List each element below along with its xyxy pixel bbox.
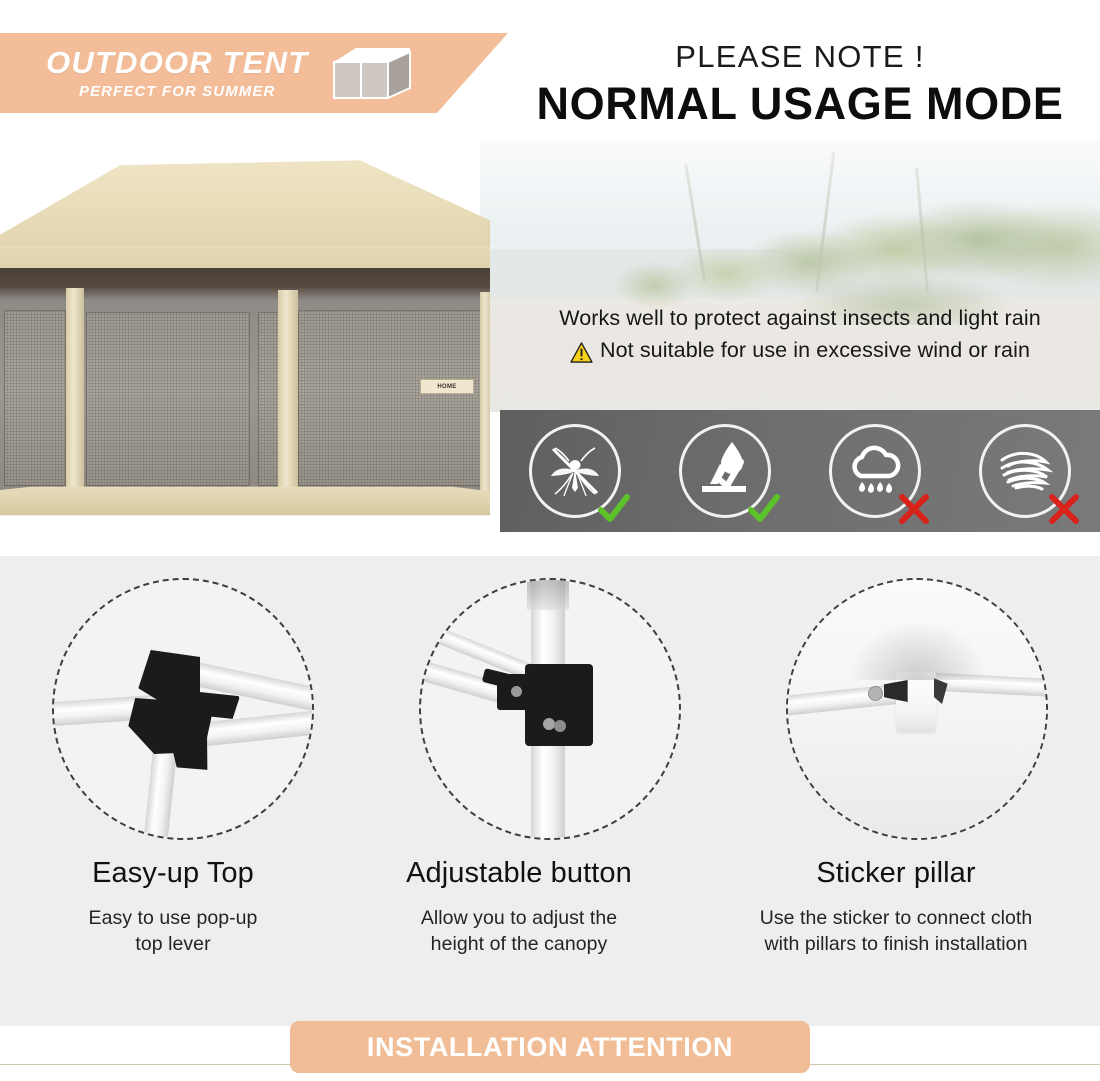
mesh-texture — [86, 312, 250, 486]
feature-caption-sticker-pillar: Sticker pillar Use the sticker to connec… — [700, 856, 1092, 957]
feature-title: Sticker pillar — [700, 856, 1092, 891]
feature-caption-adjustable-button: Adjustable button Allow you to adjust th… — [354, 856, 684, 957]
dashed-circle-frame — [419, 578, 681, 840]
page-title: NORMAL USAGE MODE — [500, 78, 1100, 130]
ribbon-subtitle: PERFECT FOR SUMMER — [79, 84, 275, 99]
bracket-rivet — [554, 720, 566, 732]
beach-background-image — [480, 140, 1100, 412]
notice-line-1: Works well to protect against insects an… — [559, 302, 1041, 334]
installation-attention-banner: INSTALLATION ATTENTION — [290, 1021, 810, 1073]
usage-notice: Works well to protect against insects an… — [500, 302, 1100, 367]
cross-mark-icon — [897, 493, 931, 525]
tent-center-pole — [278, 290, 298, 500]
ribbon-text-group: OUTDOOR TENT PERFECT FOR SUMMER — [46, 47, 308, 99]
capability-item-heavy-rain — [823, 419, 927, 523]
canopy-shadow — [848, 620, 988, 680]
notice-line-1-row: Works well to protect against insects an… — [500, 302, 1100, 334]
cross-mark-icon — [1047, 493, 1081, 525]
canopy-shadow — [527, 578, 569, 610]
feature-description: Use the sticker to connect cloth with pi… — [700, 905, 1092, 958]
pole-rivet — [868, 686, 883, 701]
feature-description: Allow you to adjust the height of the ca… — [354, 905, 684, 958]
feature-title: Easy-up Top — [8, 856, 338, 891]
tent-icon — [326, 42, 418, 104]
mesh-texture — [298, 310, 484, 486]
brand-logo-badge: HOME — [420, 379, 474, 394]
hub-connector-photo — [54, 580, 312, 838]
tent-corner-pole — [480, 292, 490, 500]
ribbon-title: OUTDOOR TENT — [46, 47, 308, 78]
mesh-panel — [86, 312, 250, 486]
notice-line-2-row: Not suitable for use in excessive wind o… — [500, 334, 1100, 366]
mesh-panel — [4, 310, 66, 486]
feature-photo-easy-up-top — [33, 572, 333, 852]
capability-item-strong-wind — [973, 419, 1077, 523]
feature-photo-adjustable-button — [400, 572, 700, 852]
tent-corner-pole — [66, 288, 84, 500]
capability-icon-strip — [500, 410, 1100, 532]
feature-photo-sticker-pillar — [767, 572, 1067, 852]
dashed-circle-frame — [786, 578, 1048, 840]
feature-photo-row — [0, 572, 1100, 862]
brand-logo-text: HOME — [437, 384, 456, 390]
outdoor-tent-ribbon: OUTDOOR TENT PERFECT FOR SUMMER — [0, 33, 508, 113]
headline-block: PLEASE NOTE ! NORMAL USAGE MODE — [500, 40, 1100, 130]
tent-mesh-body — [0, 268, 490, 498]
feature-title: Adjustable button — [354, 856, 684, 891]
sticker-pillar-photo — [788, 580, 1046, 838]
velcro-sticker-strap — [896, 672, 936, 732]
check-mark-icon — [597, 493, 631, 525]
image-wash-overlay — [480, 140, 1100, 412]
dashed-circle-frame — [52, 578, 314, 840]
product-infographic: HOME OUTDOOR TENT PERFECT FOR SUMMER P — [0, 0, 1100, 1081]
adjustable-bracket-photo — [421, 580, 679, 838]
mesh-panel — [298, 310, 484, 486]
features-section: Easy-up Top Easy to use pop-up top lever… — [0, 556, 1100, 1026]
top-section: HOME OUTDOOR TENT PERFECT FOR SUMMER P — [0, 0, 1100, 540]
warning-triangle-icon — [570, 340, 593, 361]
feature-caption-row: Easy-up Top Easy to use pop-up top lever… — [0, 856, 1100, 957]
notice-line-2: Not suitable for use in excessive wind o… — [600, 334, 1030, 366]
mesh-texture — [4, 310, 66, 486]
tent-product-photo: HOME — [0, 150, 490, 540]
tent-base-skirt — [0, 486, 490, 520]
adjustable-button-bracket — [525, 664, 593, 746]
headline-eyebrow: PLEASE NOTE ! — [500, 40, 1100, 74]
check-mark-icon — [747, 493, 781, 525]
bracket-rivet — [511, 686, 522, 697]
installation-attention-label: INSTALLATION ATTENTION — [367, 1032, 733, 1063]
feature-description: Easy to use pop-up top lever — [8, 905, 338, 958]
capability-item-water-repellent — [673, 419, 777, 523]
capability-item-insect — [523, 419, 627, 523]
feature-caption-easy-up-top: Easy-up Top Easy to use pop-up top lever — [8, 856, 338, 957]
